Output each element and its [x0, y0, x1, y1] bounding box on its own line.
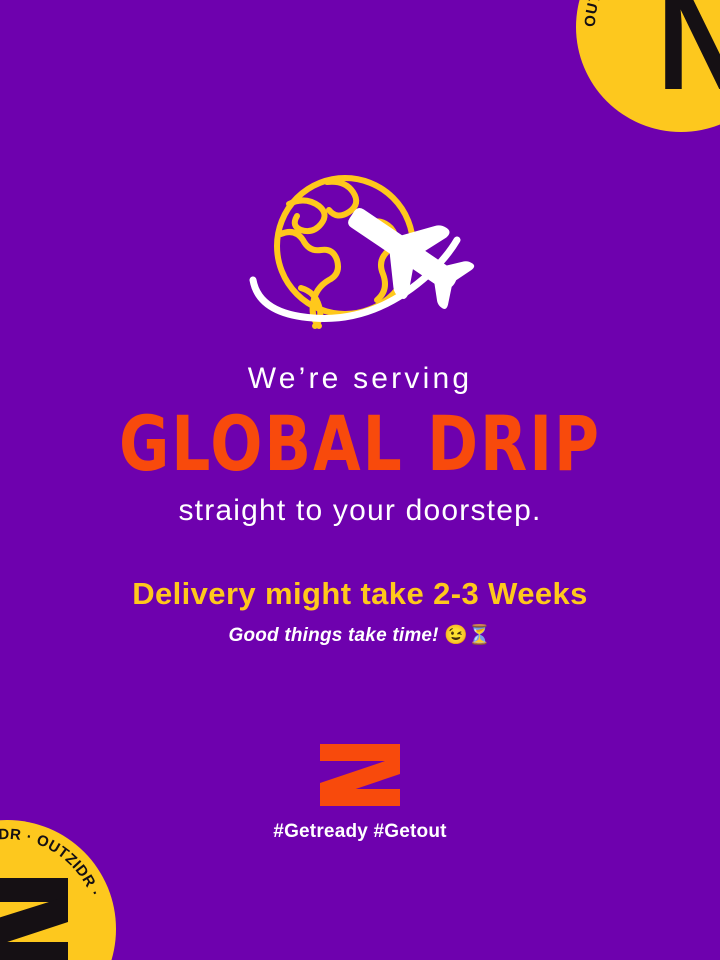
seal-core-top-right: N: [598, 0, 720, 142]
reassurance-emoji: 😉⏳: [444, 625, 491, 646]
copy-block: We’re serving GLOBAL DRIP straight to yo…: [0, 360, 720, 648]
outzidr-z-logomark: [320, 744, 400, 806]
reassurance-line: Good things take time! 😉⏳: [0, 625, 720, 648]
eyebrow-text: We’re serving: [0, 360, 720, 398]
headline-text: GLOBAL DRIP: [4, 404, 717, 483]
seal-z-logomark: [0, 876, 76, 960]
hero-illustration: [0, 168, 720, 336]
seal-center-letter: N: [656, 0, 720, 96]
reassurance-text: Good things take time!: [228, 625, 438, 646]
outzidr-seal-top-right: OUTZIDR · OUTZIDR · OUTZIDR · N: [576, 0, 720, 132]
promo-poster: OUTZIDR · OUTZIDR · OUTZIDR · N OUTZIDR …: [0, 0, 720, 960]
globe-with-airplane-icon: [235, 168, 485, 336]
hashtag-text: #Getready #Getout: [273, 821, 446, 843]
footer-block: #Getready #Getout: [0, 744, 720, 843]
delivery-notice-text: Delivery might take 2-3 Weeks: [0, 575, 720, 612]
subhead-text: straight to your doorstep.: [0, 493, 720, 529]
